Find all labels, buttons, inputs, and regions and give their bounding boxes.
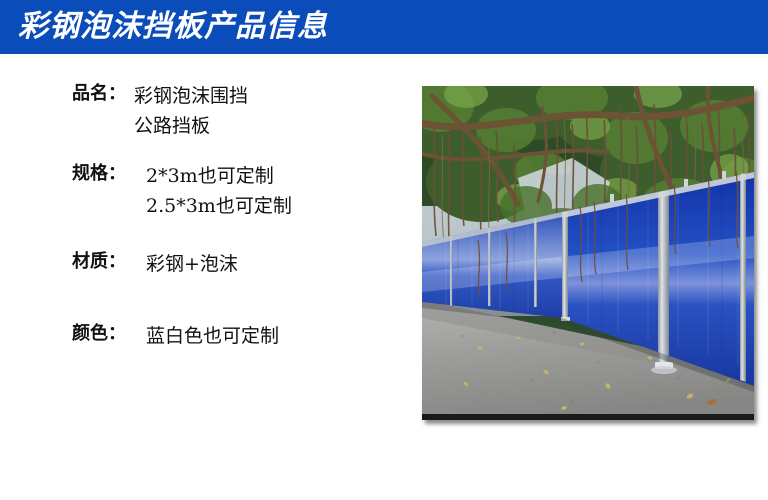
spec-value: 彩钢泡沫围挡 xyxy=(134,81,248,111)
page-title: 彩钢泡沫挡板产品信息 xyxy=(18,6,328,48)
spec-value: 彩钢+泡沫 xyxy=(146,249,238,279)
product-photo-illustration xyxy=(422,86,754,420)
spec-value: 2.5*3m也可定制 xyxy=(146,191,292,221)
product-photo xyxy=(422,86,754,420)
spec-value: 公路挡板 xyxy=(134,111,248,141)
spec-values-material: 彩钢+泡沫 xyxy=(146,249,238,279)
header-banner: 彩钢泡沫挡板产品信息 xyxy=(0,0,768,54)
spec-label-product-name: 品名： xyxy=(72,82,126,106)
spec-values-product-name: 彩钢泡沫围挡 公路挡板 xyxy=(134,81,248,141)
spec-values-size: 2*3m也可定制 2.5*3m也可定制 xyxy=(146,161,292,221)
spec-value: 2*3m也可定制 xyxy=(146,161,292,191)
product-spec-list: 品名： 彩钢泡沫围挡 公路挡板 规格： 2*3m也可定制 2.5*3m也可定制 … xyxy=(0,54,410,500)
spec-value: 蓝白色也可定制 xyxy=(146,321,279,351)
spec-label-material: 材质： xyxy=(72,250,126,274)
spec-values-color: 蓝白色也可定制 xyxy=(146,321,279,351)
product-photo-frame xyxy=(422,86,754,420)
spec-label-size: 规格： xyxy=(72,162,126,186)
spec-label-color: 颜色： xyxy=(72,322,126,346)
